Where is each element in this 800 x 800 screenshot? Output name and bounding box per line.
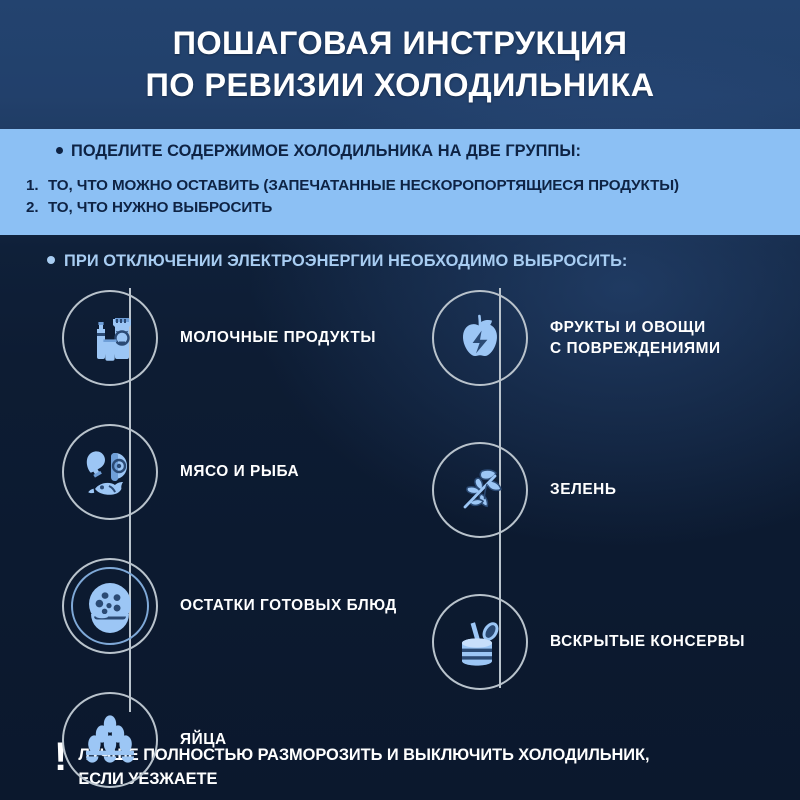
damaged-apple-icon [432,290,528,386]
list-item: 2. ТО, ЧТО НУЖНО ВЫБРОСИТЬ [26,197,774,219]
list-item-label: ТО, ЧТО НУЖНО ВЫБРОСИТЬ [48,197,272,219]
list-item-label: ЗЕЛЕНЬ [550,479,616,500]
list-item-label-line-1: ВСКРЫТЫЕ КОНСЕРВЫ [550,633,745,650]
infographic-poster: ПОШАГОВАЯ ИНСТРУКЦИЯ ПО РЕВИЗИИ ХОЛОДИЛЬ… [0,0,800,800]
discard-list-right-column: ФРУКТЫ И ОВОЩИ С ПОВРЕЖДЕНИЯМИ [432,288,800,708]
list-item-label: ВСКРЫТЫЕ КОНСЕРВЫ [550,631,745,652]
meat-and-fish-icon [62,424,158,520]
discard-list-left-column: МОЛОЧНЫЕ ПРОДУКТЫ [62,288,432,800]
opened-can-icon [432,594,528,690]
list-item-label: ФРУКТЫ И ОВОЩИ С ПОВРЕЖДЕНИЯМИ [550,317,721,360]
milk-carton-bottle-glass-icon [62,290,158,386]
eggs-stack-icon [62,692,158,788]
list-item-label: МЯСО И РЫБА [180,461,299,482]
list-item: МЯСО И РЫБА [62,422,432,522]
list-item: ЗЕЛЕНЬ [432,440,800,540]
section-heading: ПРИ ОТКЛЮЧЕНИИ ЭЛЕКТРОЭНЕРГИИ НЕОБХОДИМО… [47,252,627,271]
list-item-label: ТО, ЧТО МОЖНО ОСТАВИТЬ (ЗАПЕЧАТАННЫЕ НЕС… [48,175,679,197]
page-title: ПОШАГОВАЯ ИНСТРУКЦИЯ ПО РЕВИЗИИ ХОЛОДИЛЬ… [0,22,800,107]
list-item-label-line-2: С ПОВРЕЖДЕНИЯМИ [550,338,721,359]
footer-note-line-2: ЕСЛИ УЕЗЖАЕТЕ [78,768,649,792]
list-item-label-line-1: ЗЕЛЕНЬ [550,481,616,498]
banner-heading: ПОДЕЛИТЕ СОДЕРЖИМОЕ ХОЛОДИЛЬНИКА НА ДВЕ … [56,142,774,161]
bullet-dot-icon [47,256,55,264]
list-item: МОЛОЧНЫЕ ПРОДУКТЫ [62,288,432,388]
list-item: ФРУКТЫ И ОВОЩИ С ПОВРЕЖДЕНИЯМИ [432,288,800,388]
list-item-number: 1. [26,175,48,197]
footer-note-text: ЛУЧШЕ ПОЛНОСТЬЮ РАЗМОРОЗИТЬ И ВЫКЛЮЧИТЬ … [78,742,649,792]
page-title-line-1: ПОШАГОВАЯ ИНСТРУКЦИЯ [0,22,800,64]
list-item: 1. ТО, ЧТО МОЖНО ОСТАВИТЬ (ЗАПЕЧАТАННЫЕ … [26,175,774,197]
page-title-line-2: ПО РЕВИЗИИ ХОЛОДИЛЬНИКА [0,64,800,106]
section-heading-text: ПРИ ОТКЛЮЧЕНИИ ЭЛЕКТРОЭНЕРГИИ НЕОБХОДИМО… [64,252,627,271]
list-item: ОСТАТКИ ГОТОВЫХ БЛЮД [62,556,432,656]
list-item-label: МОЛОЧНЫЕ ПРОДУКТЫ [180,327,376,348]
footer-note-line-1: ЛУЧШЕ ПОЛНОСТЬЮ РАЗМОРОЗИТЬ И ВЫКЛЮЧИТЬ … [78,746,649,764]
banner-heading-text: ПОДЕЛИТЕ СОДЕРЖИМОЕ ХОЛОДИЛЬНИКА НА ДВЕ … [71,142,581,161]
instructions-banner: ПОДЕЛИТЕ СОДЕРЖИМОЕ ХОЛОДИЛЬНИКА НА ДВЕ … [0,129,800,235]
list-item-number: 2. [26,197,48,219]
bullet-dot-icon [56,147,63,154]
list-item-label-line-1: ФРУКТЫ И ОВОЩИ [550,319,706,336]
herb-sprig-icon [432,442,528,538]
banner-ordered-list: 1. ТО, ЧТО МОЖНО ОСТАВИТЬ (ЗАПЕЧАТАННЫЕ … [26,175,774,220]
plate-of-leftovers-icon [62,558,158,654]
list-item: ВСКРЫТЫЕ КОНСЕРВЫ [432,592,800,692]
list-item-label: ОСТАТКИ ГОТОВЫХ БЛЮД [180,595,397,616]
